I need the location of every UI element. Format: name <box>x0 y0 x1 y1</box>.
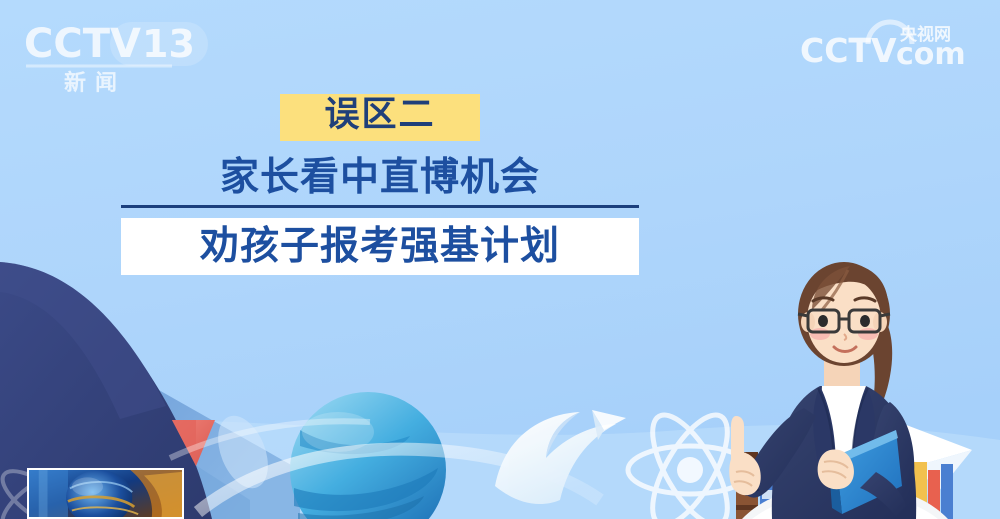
headline-line-1: 家长看中直博机会 <box>121 156 639 200</box>
misconception-badge: 误区二 <box>280 94 479 141</box>
headline-block: 误区二 家长看中直博机会 劝孩子报考强基计划 <box>0 94 760 275</box>
headline-line-1-wrap: 家长看中直博机会 <box>121 156 639 200</box>
blush-left <box>810 328 830 340</box>
blush-right <box>858 328 878 340</box>
eye-left <box>818 315 828 327</box>
headline-line-2: 劝孩子报考强基计划 <box>200 227 560 266</box>
cctv-com-watermark: CCTV com 央视网 <box>796 14 986 72</box>
cctv-com-text: CCTV <box>800 31 897 70</box>
headline-line-2-band: 劝孩子报考强基计划 <box>121 218 639 275</box>
cctv13-logo-text: CCTV <box>24 21 141 67</box>
broadcast-graphic-stage: CCTV 13 新闻 CCTV com 央视网 误区二 家长看中直博机会 劝孩子… <box>0 0 1000 519</box>
index-finger <box>731 416 744 465</box>
cctv13-logo-sub: 新闻 <box>64 70 126 94</box>
svg-text:13: 13 <box>142 22 195 66</box>
cctv-com-cn-text: 央视网 <box>900 24 951 45</box>
eye-right <box>860 315 870 327</box>
headline-divider <box>121 205 639 208</box>
badge-label: 误区二 <box>324 98 435 133</box>
picture-in-picture-preview[interactable] <box>27 468 184 519</box>
teacher-illustration <box>700 240 1000 519</box>
cctv13-logo: CCTV 13 新闻 <box>22 16 232 94</box>
